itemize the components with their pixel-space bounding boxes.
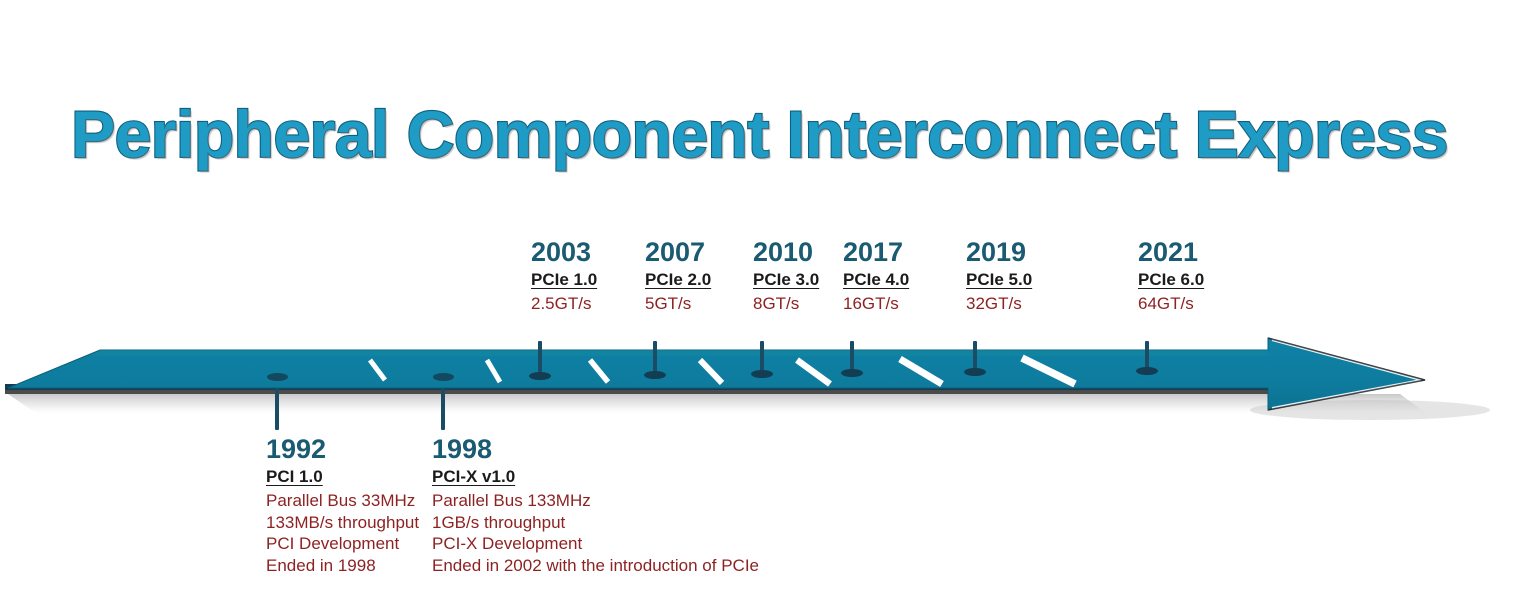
event-version: PCIe 5.0 (966, 267, 1032, 293)
event-label-2007: 2007 PCIe 2.0 5GT/s (645, 238, 711, 316)
event-year: 1992 (266, 435, 419, 463)
event-year: 2007 (645, 238, 711, 266)
event-label-1998: 1998 PCI-X v1.0 Parallel Bus 133MHz 1GB/… (432, 435, 759, 577)
marker-dot-1992 (267, 373, 288, 381)
event-year: 2010 (753, 238, 819, 266)
event-label-1992: 1992 PCI 1.0 Parallel Bus 33MHz 133MB/s … (266, 435, 419, 577)
event-version: PCIe 2.0 (645, 267, 711, 293)
event-detail: 133MB/s throughput (266, 512, 419, 534)
event-year: 2017 (843, 238, 909, 266)
marker-foot-2010 (751, 370, 773, 378)
event-speed: 5GT/s (645, 293, 711, 316)
marker-foot-2019 (964, 368, 986, 376)
event-speed: 2.5GT/s (531, 293, 597, 316)
marker-foot-2021 (1136, 367, 1158, 375)
marker-stem-1992 (275, 388, 279, 430)
marker-stem-1998 (441, 388, 445, 430)
event-detail: Ended in 2002 with the introduction of P… (432, 555, 759, 577)
event-label-2021: 2021 PCIe 6.0 64GT/s (1138, 238, 1204, 316)
event-year: 2003 (531, 238, 597, 266)
event-year: 1998 (432, 435, 759, 463)
event-version: PCIe 4.0 (843, 267, 909, 293)
event-version: PCIe 1.0 (531, 267, 597, 293)
arrow-top-facet (92, 350, 1268, 356)
event-version: PCIe 3.0 (753, 267, 819, 293)
event-year: 2019 (966, 238, 1032, 266)
marker-foot-2003 (529, 372, 551, 380)
event-detail: Ended in 1998 (266, 555, 419, 577)
event-speed: 8GT/s (753, 293, 819, 316)
event-detail: 1GB/s throughput (432, 512, 759, 534)
event-speed: 32GT/s (966, 293, 1032, 316)
marker-dot-1998 (433, 373, 454, 381)
event-detail: PCI Development (266, 533, 419, 555)
marker-foot-2007 (644, 371, 666, 379)
event-label-2003: 2003 PCIe 1.0 2.5GT/s (531, 238, 597, 316)
event-version: PCI-X v1.0 (432, 464, 759, 490)
event-label-2019: 2019 PCIe 5.0 32GT/s (966, 238, 1032, 316)
event-label-2010: 2010 PCIe 3.0 8GT/s (753, 238, 819, 316)
slide-canvas: Peripheral Component Interconnect Expres… (0, 0, 1519, 593)
event-speed: 16GT/s (843, 293, 909, 316)
event-detail: PCI-X Development (432, 533, 759, 555)
event-detail: Parallel Bus 133MHz (432, 490, 759, 512)
marker-foot-2017 (841, 369, 863, 377)
page-title: Peripheral Component Interconnect Expres… (0, 96, 1519, 172)
event-label-2017: 2017 PCIe 4.0 16GT/s (843, 238, 909, 316)
event-version: PCI 1.0 (266, 464, 419, 490)
event-year: 2021 (1138, 238, 1204, 266)
event-detail: Parallel Bus 33MHz (266, 490, 419, 512)
event-version: PCIe 6.0 (1138, 267, 1204, 293)
event-speed: 64GT/s (1138, 293, 1204, 316)
